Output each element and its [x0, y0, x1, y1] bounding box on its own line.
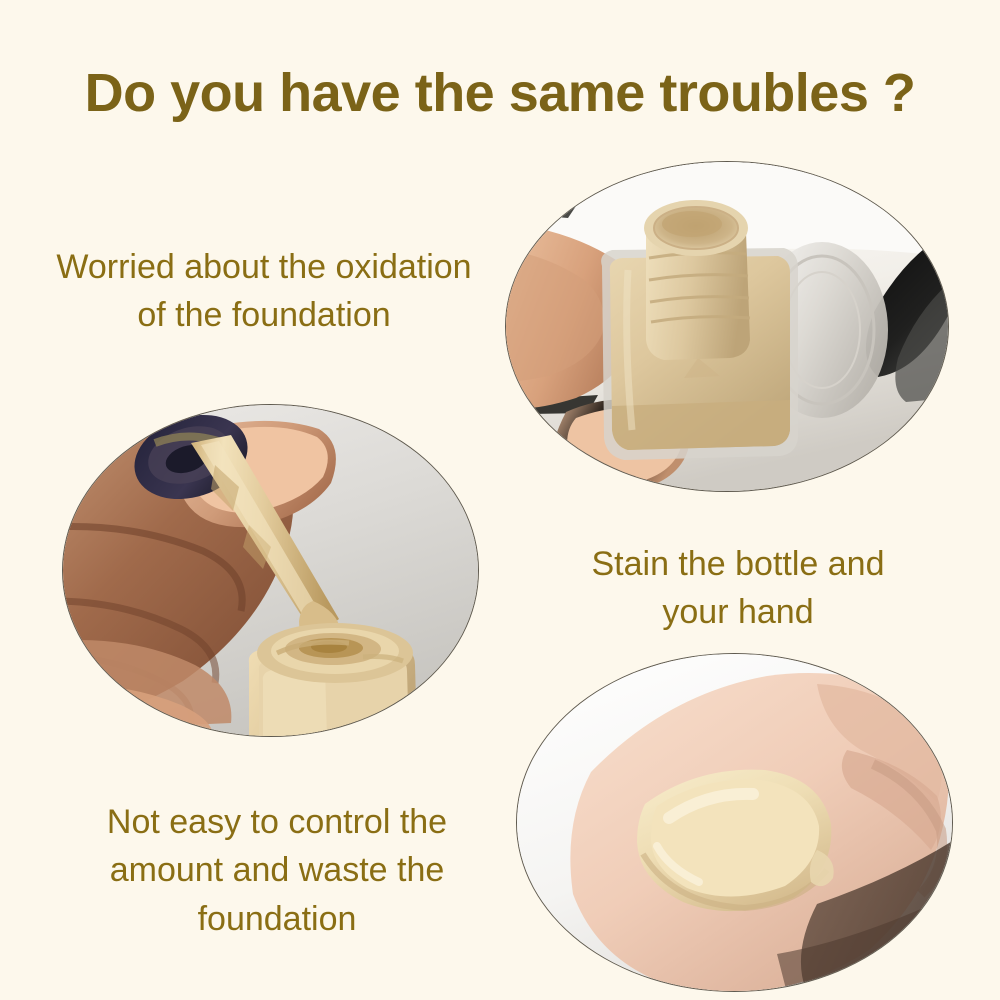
caption-stain-line-1: Stain the bottle and	[538, 540, 938, 588]
dropper-applicator-with-foundation-photo	[62, 404, 479, 737]
caption-oxidation-line-1: Worried about the oxidation	[14, 243, 514, 291]
caption-waste: Not easy to control the amount and waste…	[52, 798, 502, 943]
infographic-poster: Do you have the same troubles ?	[0, 0, 1000, 1000]
caption-waste-line-1: Not easy to control the	[52, 798, 502, 846]
caption-stain-line-2: your hand	[538, 588, 938, 636]
foundation-dollop-on-back-of-hand-photo	[516, 653, 953, 992]
caption-waste-line-3: foundation	[52, 895, 502, 943]
caption-oxidation: Worried about the oxidation of the found…	[14, 243, 514, 340]
caption-waste-line-2: amount and waste the	[52, 846, 502, 894]
hand-holding-open-foundation-bottle-photo	[505, 161, 949, 492]
caption-stain: Stain the bottle and your hand	[538, 540, 938, 637]
caption-oxidation-line-2: of the foundation	[14, 291, 514, 339]
page-title: Do you have the same troubles ?	[0, 62, 1000, 124]
